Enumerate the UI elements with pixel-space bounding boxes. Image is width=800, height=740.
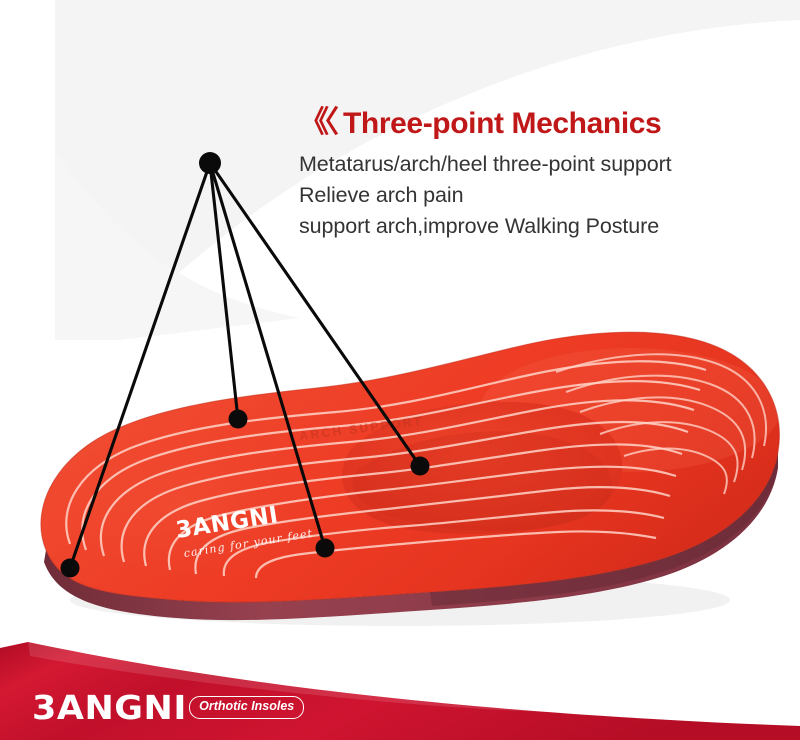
callout-line-heel-support [70, 163, 210, 568]
metatarsal-arch-point-dot [411, 457, 430, 476]
callout-line-heel-cup-rim [210, 163, 238, 419]
three-point-callout-layer [0, 0, 800, 740]
brand-lockup: 3ANGNI Orthotic Insoles [32, 691, 304, 724]
callout-line-arch-lower [210, 163, 325, 548]
arch-lower-point-dot [316, 539, 335, 558]
three-point-origin-dot [199, 152, 221, 174]
brand-category-badge: Orthotic Insoles [189, 696, 304, 719]
callout-leader-lines [70, 163, 420, 568]
brand-banner: 3ANGNI Orthotic Insoles [0, 630, 800, 740]
heel-cup-rim-point-dot [229, 410, 248, 429]
heel-support-point-dot [61, 559, 80, 578]
product-infographic-page: 《〈 Three-point Mechanics Metatarus/arch/… [0, 0, 800, 740]
brand-wordmark: 3ANGNI [32, 691, 187, 724]
